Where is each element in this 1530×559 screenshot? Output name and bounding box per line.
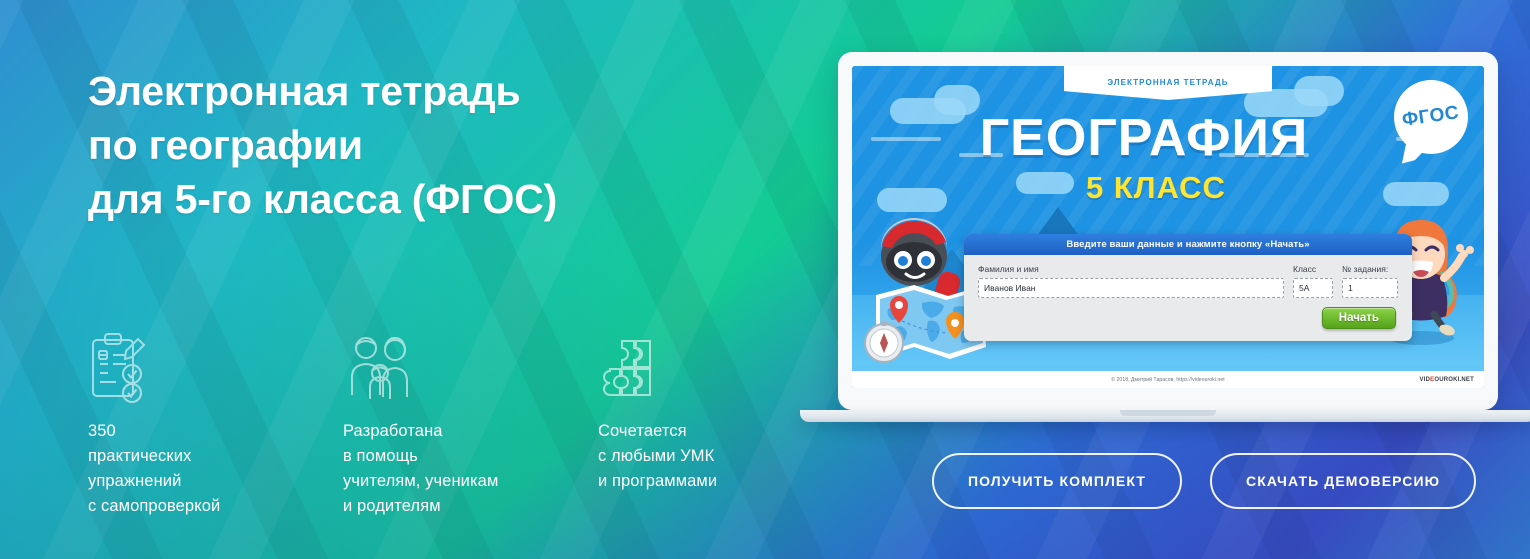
field-fullname-label: Фамилия и имя: [978, 264, 1284, 274]
login-form-panel: Введите ваши данные и нажмите кнопку «На…: [964, 234, 1412, 341]
feature-item-label: 350 практических упражнений с самопровер…: [88, 419, 343, 519]
laptop-mockup: ЭЛЕКТРОННАЯ ТЕТРАДЬ ГЕОГРАФИЯ 5 КЛАСС ФГ…: [838, 52, 1498, 410]
family-group-icon: [343, 325, 598, 405]
download-demo-button[interactable]: СКАЧАТЬ ДЕМОВЕРСИЮ: [1210, 453, 1476, 509]
feature-list: 350 практических упражнений с самопровер…: [88, 325, 853, 519]
cloud-shape: [1294, 76, 1344, 106]
start-button[interactable]: Начать: [1322, 307, 1396, 329]
fgos-badge-label: ФГОС: [1401, 102, 1461, 132]
hero-banner: Электронная тетрадь по географии для 5-г…: [0, 0, 1530, 559]
hero-left-column: Электронная тетрадь по географии для 5-г…: [88, 0, 848, 559]
cta-button-group: ПОЛУЧИТЬ КОМПЛЕКТ СКАЧАТЬ ДЕМОВЕРСИЮ: [932, 453, 1476, 509]
laptop-lid: ЭЛЕКТРОННАЯ ТЕТРАДЬ ГЕОГРАФИЯ 5 КЛАСС ФГ…: [838, 52, 1498, 410]
task-number-input[interactable]: 1: [1342, 278, 1398, 298]
class-input[interactable]: 5А: [1293, 278, 1333, 298]
screen-subtitle: 5 КЛАСС: [852, 170, 1484, 206]
laptop-notch: [1120, 410, 1216, 416]
ribbon-label: ЭЛЕКТРОННАЯ ТЕТРАДЬ: [1107, 78, 1228, 87]
videouroki-logo: VIDEOUROKI.NET: [1420, 377, 1474, 383]
feature-item-audience: Разработана в помощь учителям, ученикам …: [343, 325, 598, 519]
feature-item-exercises: 350 практических упражнений с самопровер…: [88, 325, 343, 519]
form-body: Фамилия и имя Иванов Иван Класс 5А № зад…: [964, 255, 1412, 341]
logo-prefix: VID: [1420, 377, 1431, 383]
laptop-screen: ЭЛЕКТРОННАЯ ТЕТРАДЬ ГЕОГРАФИЯ 5 КЛАСС ФГ…: [852, 66, 1484, 388]
copyright-text: © 2018, Дмитрий Тарасов, https://videour…: [1111, 377, 1224, 383]
fgos-badge: ФГОС: [1394, 80, 1468, 154]
get-kit-button[interactable]: ПОЛУЧИТЬ КОМПЛЕКТ: [932, 453, 1182, 509]
feature-item-compatibility: Сочетается с любыми УМК и программами: [598, 325, 853, 519]
form-actions: Начать: [978, 307, 1398, 329]
form-row: Фамилия и имя Иванов Иван Класс 5А № зад…: [978, 264, 1398, 298]
form-header-label: Введите ваши данные и нажмите кнопку «На…: [964, 234, 1412, 255]
puzzle-pieces-icon: [598, 325, 853, 405]
field-class-label: Класс: [1293, 264, 1333, 274]
field-task-number: № задания: 1: [1342, 264, 1398, 298]
page-title: Электронная тетрадь по географии для 5-г…: [88, 64, 557, 226]
feature-item-label: Сочетается с любыми УМК и программами: [598, 419, 853, 494]
field-task-number-label: № задания:: [1342, 264, 1398, 274]
clipboard-checklist-icon: [88, 325, 343, 405]
field-class: Класс 5А: [1293, 264, 1333, 298]
logo-suffix: OUROKI.NET: [1434, 377, 1474, 383]
feature-item-label: Разработана в помощь учителям, ученикам …: [343, 419, 598, 519]
fullname-input[interactable]: Иванов Иван: [978, 278, 1284, 298]
screen-title: ГЕОГРАФИЯ: [852, 108, 1484, 168]
screen-footer: © 2018, Дмитрий Тарасов, https://videour…: [852, 371, 1484, 388]
field-fullname: Фамилия и имя Иванов Иван: [978, 264, 1284, 298]
